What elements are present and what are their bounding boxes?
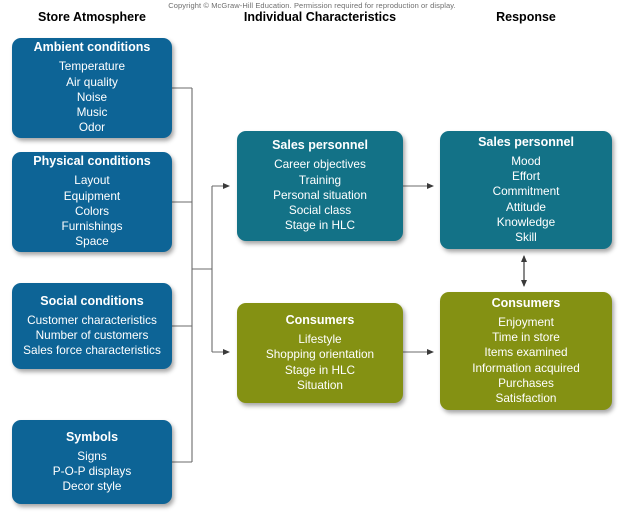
- copyright-notice: Copyright © McGraw-Hill Education. Permi…: [0, 1, 624, 10]
- box-item-list: Signs P-O-P displays Decor style: [53, 449, 131, 495]
- list-item: Enjoyment: [472, 315, 580, 330]
- box-social-conditions[interactable]: Social conditions Customer characteristi…: [12, 283, 172, 369]
- list-item: Time in store: [472, 330, 580, 345]
- list-item: Purchases: [472, 376, 580, 391]
- list-item: Furnishings: [62, 219, 123, 234]
- box-individual-consumers[interactable]: Consumers Lifestyle Shopping orientation…: [237, 303, 403, 403]
- box-item-list: Enjoyment Time in store Items examined I…: [472, 315, 580, 406]
- list-item: Music: [59, 105, 125, 120]
- box-item-list: Mood Effort Commitment Attitude Knowledg…: [493, 154, 560, 245]
- list-item: Odor: [59, 120, 125, 135]
- list-item: Attitude: [493, 200, 560, 215]
- list-item: Career objectives: [273, 157, 367, 172]
- box-individual-sales-personnel[interactable]: Sales personnel Career objectives Traini…: [237, 131, 403, 241]
- list-item: Items examined: [472, 345, 580, 360]
- list-item: P-O-P displays: [53, 464, 131, 479]
- column-header-response: Response: [440, 10, 612, 24]
- list-item: Commitment: [493, 184, 560, 199]
- box-title: Ambient conditions: [34, 40, 151, 55]
- list-item: Signs: [53, 449, 131, 464]
- box-item-list: Layout Equipment Colors Furnishings Spac…: [62, 173, 123, 249]
- box-title: Sales personnel: [272, 138, 368, 153]
- box-item-list: Lifestyle Shopping orientation Stage in …: [266, 332, 374, 393]
- list-item: Knowledge: [493, 215, 560, 230]
- list-item: Effort: [493, 169, 560, 184]
- list-item: Mood: [493, 154, 560, 169]
- list-item: Layout: [62, 173, 123, 188]
- box-item-list: Career objectives Training Personal situ…: [273, 157, 367, 233]
- column-header-individual-characteristics: Individual Characteristics: [225, 10, 415, 24]
- box-title: Consumers: [286, 313, 355, 328]
- list-item: Information acquired: [472, 361, 580, 376]
- box-title: Social conditions: [40, 294, 144, 309]
- list-item: Satisfaction: [472, 391, 580, 406]
- list-item: Noise: [59, 90, 125, 105]
- list-item: Space: [62, 234, 123, 249]
- list-item: Social class: [273, 203, 367, 218]
- box-title: Sales personnel: [478, 135, 574, 150]
- box-title: Physical conditions: [33, 154, 150, 169]
- list-item: Equipment: [62, 189, 123, 204]
- list-item: Number of customers: [23, 328, 161, 343]
- box-title: Consumers: [492, 296, 561, 311]
- box-physical-conditions[interactable]: Physical conditions Layout Equipment Col…: [12, 152, 172, 252]
- box-item-list: Temperature Air quality Noise Music Odor: [59, 59, 125, 135]
- list-item: Customer characteristics: [23, 313, 161, 328]
- diagram-canvas: Copyright © McGraw-Hill Education. Permi…: [0, 0, 624, 519]
- list-item: Stage in HLC: [273, 218, 367, 233]
- list-item: Stage in HLC: [266, 363, 374, 378]
- list-item: Personal situation: [273, 188, 367, 203]
- box-item-list: Customer characteristics Number of custo…: [23, 313, 161, 359]
- list-item: Lifestyle: [266, 332, 374, 347]
- list-item: Training: [273, 173, 367, 188]
- box-response-sales-personnel[interactable]: Sales personnel Mood Effort Commitment A…: [440, 131, 612, 249]
- list-item: Decor style: [53, 479, 131, 494]
- list-item: Shopping orientation: [266, 347, 374, 362]
- box-title: Symbols: [66, 430, 118, 445]
- list-item: Colors: [62, 204, 123, 219]
- column-header-store-atmosphere: Store Atmosphere: [12, 10, 172, 24]
- list-item: Temperature: [59, 59, 125, 74]
- box-ambient-conditions[interactable]: Ambient conditions Temperature Air quali…: [12, 38, 172, 138]
- list-item: Skill: [493, 230, 560, 245]
- box-response-consumers[interactable]: Consumers Enjoyment Time in store Items …: [440, 292, 612, 410]
- list-item: Air quality: [59, 75, 125, 90]
- list-item: Sales force characteristics: [23, 343, 161, 358]
- list-item: Situation: [266, 378, 374, 393]
- box-symbols[interactable]: Symbols Signs P-O-P displays Decor style: [12, 420, 172, 504]
